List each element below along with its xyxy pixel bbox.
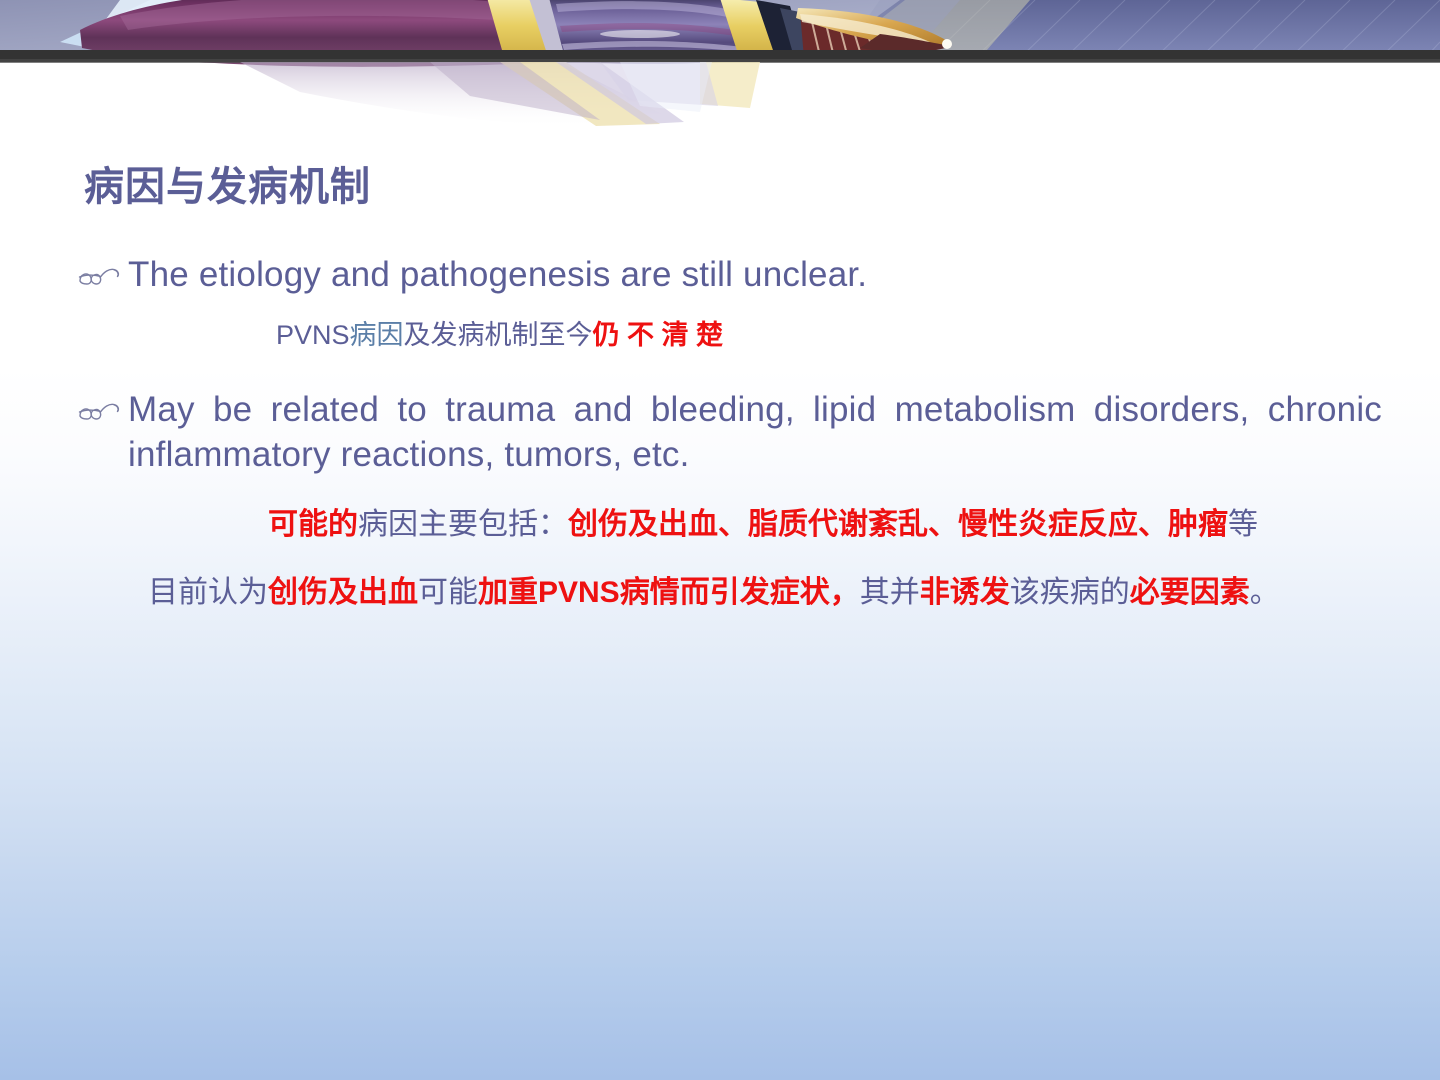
bullet-2-cn-run-red1: 可能的 [268,508,358,541]
closing-run-purple-1: 目前认为 [148,576,268,609]
bullet-2-english-text: May be related to trauma and bleeding, l… [128,387,1382,478]
closing-run-purple-3: 其并 [860,576,920,609]
presentation-slide: 病因与发病机制 The etiology and pathogenesis ar… [0,0,1440,1080]
closing-paragraph: 目前认为创伤及出血可能加重PVNS病情而引发症状，其并非诱发该疾病的必要因素。 [0,572,1440,615]
closing-run-purple-2: 可能 [418,576,478,609]
bullet-1-cn-run-pvns: PVNS [276,320,350,350]
bullet-1-cn-run-blue: 病因 [350,320,404,350]
bullet-1-english-text: The etiology and pathogenesis are still … [128,252,1382,298]
bullet-2-chinese-text: 可能的病因主要包括：创伤及出血、脂质代谢紊乱、慢性炎症反应、肿瘤等 [128,504,1382,547]
closing-run-red-2: 加重PVNS病情而引发症状， [478,576,860,609]
closing-run-red-4: 必要因素 [1130,576,1250,609]
bullet-item-2: May be related to trauma and bleeding, l… [0,387,1440,547]
header-decoration-banner [0,0,1440,136]
fountain-pen-artwork [0,0,1440,136]
bullet-2-cn-run-purple1: 病因主要包括： [358,508,568,541]
flourish-bullet-icon [78,264,124,292]
bullet-1-cn-run-mid: 及发病机制至今 [404,320,593,350]
bullet-1-chinese-text: PVNS病因及发病机制至今仍 不 清 楚 [128,318,1382,353]
closing-run-purple-4: 该疾病的 [1010,576,1130,609]
closing-run-red-1: 创伤及出血 [268,576,418,609]
bullet-1-cn-run-red: 仍 不 清 楚 [593,320,724,350]
slide-title: 病因与发病机制 [84,154,371,212]
slide-body: The etiology and pathogenesis are still … [0,252,1440,615]
bullet-item-1: The etiology and pathogenesis are still … [0,252,1440,353]
bullet-2-cn-run-purple2: 等 [1228,508,1258,541]
bullet-2-cn-run-red2: 创伤及出血、脂质代谢紊乱、慢性炎症反应、肿瘤 [568,508,1228,541]
closing-run-red-3: 非诱发 [920,576,1010,609]
flourish-bullet-icon [78,399,124,427]
closing-run-purple-5: 。 [1250,576,1280,609]
